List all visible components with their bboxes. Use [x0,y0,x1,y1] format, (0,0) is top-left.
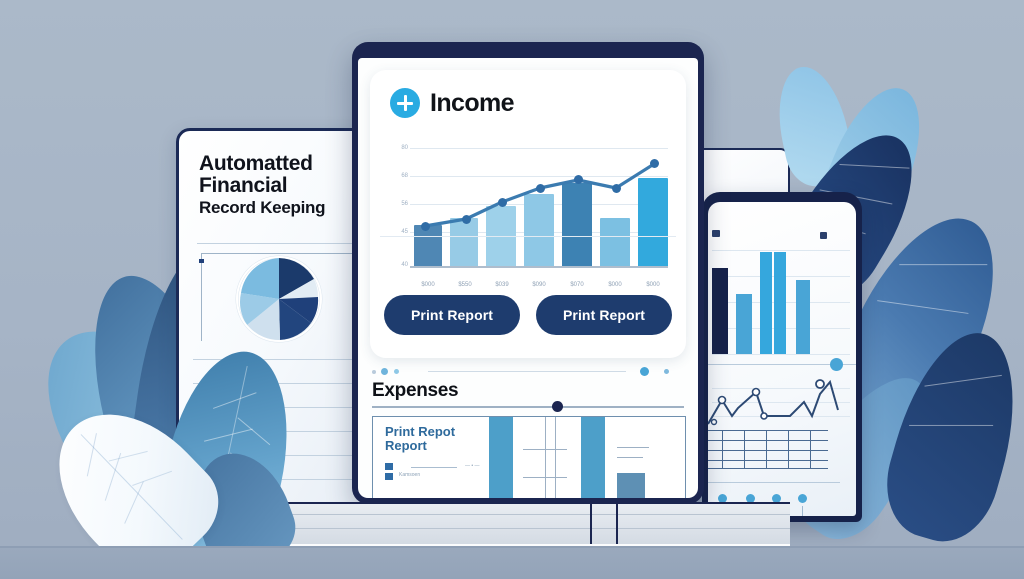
data-point [536,184,545,193]
tablet-bar [760,252,772,354]
expenses-bar [581,417,605,498]
data-point [421,222,430,231]
button-row: Print Report Print Report [384,292,672,338]
tick-marker [199,259,204,263]
expenses-bar [617,473,645,498]
income-title: Income [430,89,514,118]
x-tick-label: $070 [560,282,594,288]
pagination-dots [372,366,684,378]
x-tick-label: $039 [485,282,519,288]
illustration-scene: Automatted Financial Record Keeping [0,0,1024,579]
dot[interactable] [394,369,399,374]
tablet-bar [712,268,728,354]
floor [0,548,1024,579]
data-point [650,159,659,168]
expenses-slider-knob[interactable] [552,401,563,412]
data-point [498,198,507,207]
data-point [612,184,621,193]
pie-chart [201,253,357,345]
tablet-line-chart [708,372,856,436]
x-tick-label: $000 [598,282,632,288]
tablet-bar [774,252,786,354]
dot[interactable] [381,368,388,375]
laptop-device: Income 80 68 56 45 40 [352,42,704,512]
tablet-slider-knob[interactable] [830,358,843,371]
expenses-text-line-1: Print Repot [385,425,455,439]
page-title: Automatted Financial Record Keeping [199,153,375,219]
pie-chart-svg [201,253,357,345]
expenses-title: Expenses [372,380,458,402]
laptop-screen: Income 80 68 56 45 40 [358,58,698,498]
data-point [462,215,471,224]
dot[interactable] [664,369,669,374]
doc-title-line-1: Automatted [199,153,375,175]
legend-swatch [385,463,393,470]
legend-swatch [385,473,393,480]
tablet-badge-icon-2 [820,232,827,239]
print-report-button-1[interactable]: Print Report [384,295,520,335]
plus-circle-icon[interactable] [390,88,420,118]
trend-line [388,130,672,270]
dot[interactable] [372,370,376,374]
expenses-text-line-2: Report [385,439,455,453]
legend-label: Kamsoen [399,472,420,478]
doc-title-line-2: Financial [199,175,375,197]
tablet-screen [708,202,856,516]
x-tick-label: $090 [522,282,556,288]
tablet-bar [796,280,810,354]
tablet-device [702,192,862,522]
expenses-bar [489,417,513,498]
print-report-button-2[interactable]: Print Report [536,295,672,335]
divider [197,243,359,244]
expenses-panel-text: Print Repot Report [385,425,455,453]
tablet-badge-icon [712,230,720,237]
income-chart: 80 68 56 45 40 [388,130,672,280]
legend-note: — • — [465,463,480,469]
x-tick-label: $000 [411,282,445,288]
x-tick-label: $000 [636,282,670,288]
doc-title-line-3: Record Keeping [199,197,375,219]
dot[interactable] [640,367,649,376]
x-tick-label: $550 [448,282,482,288]
tablet-bar [736,294,752,354]
income-card: Income 80 68 56 45 40 [370,70,686,358]
expenses-slider-track[interactable] [372,406,684,408]
expenses-panel: Print Repot Report — • — Kamsoen [372,416,686,498]
data-point [574,175,583,184]
